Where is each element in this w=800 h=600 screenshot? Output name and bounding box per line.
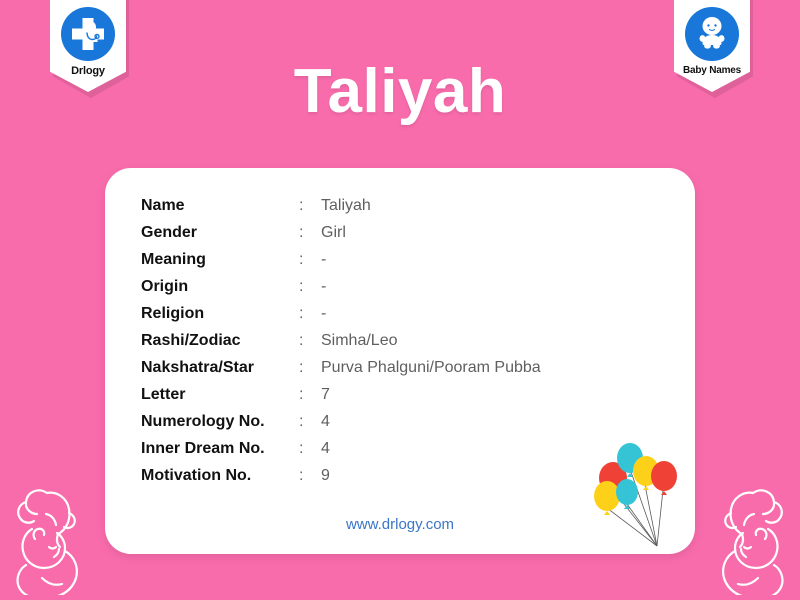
row-label: Letter [141, 381, 299, 408]
row-separator: : [299, 192, 321, 219]
row-separator: : [299, 462, 321, 489]
table-row: Inner Dream No. : 4 [141, 435, 541, 462]
row-label: Rashi/Zodiac [141, 327, 299, 354]
table-row: Rashi/Zodiac : Simha/Leo [141, 327, 541, 354]
table-row: Letter : 7 [141, 381, 541, 408]
row-label: Origin [141, 273, 299, 300]
table-row: Numerology No. : 4 [141, 408, 541, 435]
mother-and-baby-icon-left [2, 477, 102, 600]
row-separator: : [299, 381, 321, 408]
row-value: - [321, 273, 541, 300]
row-label: Gender [141, 219, 299, 246]
row-value: Simha/Leo [321, 327, 541, 354]
table-row: Gender : Girl [141, 219, 541, 246]
row-value: Purva Phalguni/Pooram Pubba [321, 354, 541, 381]
row-value: Taliyah [321, 192, 541, 219]
row-separator: : [299, 354, 321, 381]
row-label: Religion [141, 300, 299, 327]
row-label: Inner Dream No. [141, 435, 299, 462]
row-separator: : [299, 246, 321, 273]
table-row: Meaning : - [141, 246, 541, 273]
balloons-icon [583, 438, 693, 554]
row-value: - [321, 300, 541, 327]
row-label: Nakshatra/Star [141, 354, 299, 381]
row-separator: : [299, 327, 321, 354]
row-value: 4 [321, 435, 541, 462]
page-title: Taliyah [0, 56, 800, 127]
table-row: Name : Taliyah [141, 192, 541, 219]
row-value: 4 [321, 408, 541, 435]
mother-and-baby-icon-right [698, 477, 798, 600]
table-row: Motivation No. : 9 [141, 462, 541, 489]
table-row: Nakshatra/Star : Purva Phalguni/Pooram P… [141, 354, 541, 381]
name-details-card: Name : Taliyah Gender : Girl Meaning : -… [105, 168, 695, 554]
table-row: Religion : - [141, 300, 541, 327]
row-separator: : [299, 435, 321, 462]
row-label: Numerology No. [141, 408, 299, 435]
row-label: Meaning [141, 246, 299, 273]
row-value: 7 [321, 381, 541, 408]
table-body: Name : Taliyah Gender : Girl Meaning : -… [141, 192, 541, 489]
name-details-table: Name : Taliyah Gender : Girl Meaning : -… [141, 192, 541, 489]
row-label: Name [141, 192, 299, 219]
doctor-medical-cross-icon [61, 7, 115, 61]
row-separator: : [299, 273, 321, 300]
row-value: Girl [321, 219, 541, 246]
row-value: - [321, 246, 541, 273]
baby-icon [685, 7, 739, 61]
row-separator: : [299, 219, 321, 246]
table-row: Origin : - [141, 273, 541, 300]
row-separator: : [299, 408, 321, 435]
row-separator: : [299, 300, 321, 327]
row-value: 9 [321, 462, 541, 489]
row-label: Motivation No. [141, 462, 299, 489]
